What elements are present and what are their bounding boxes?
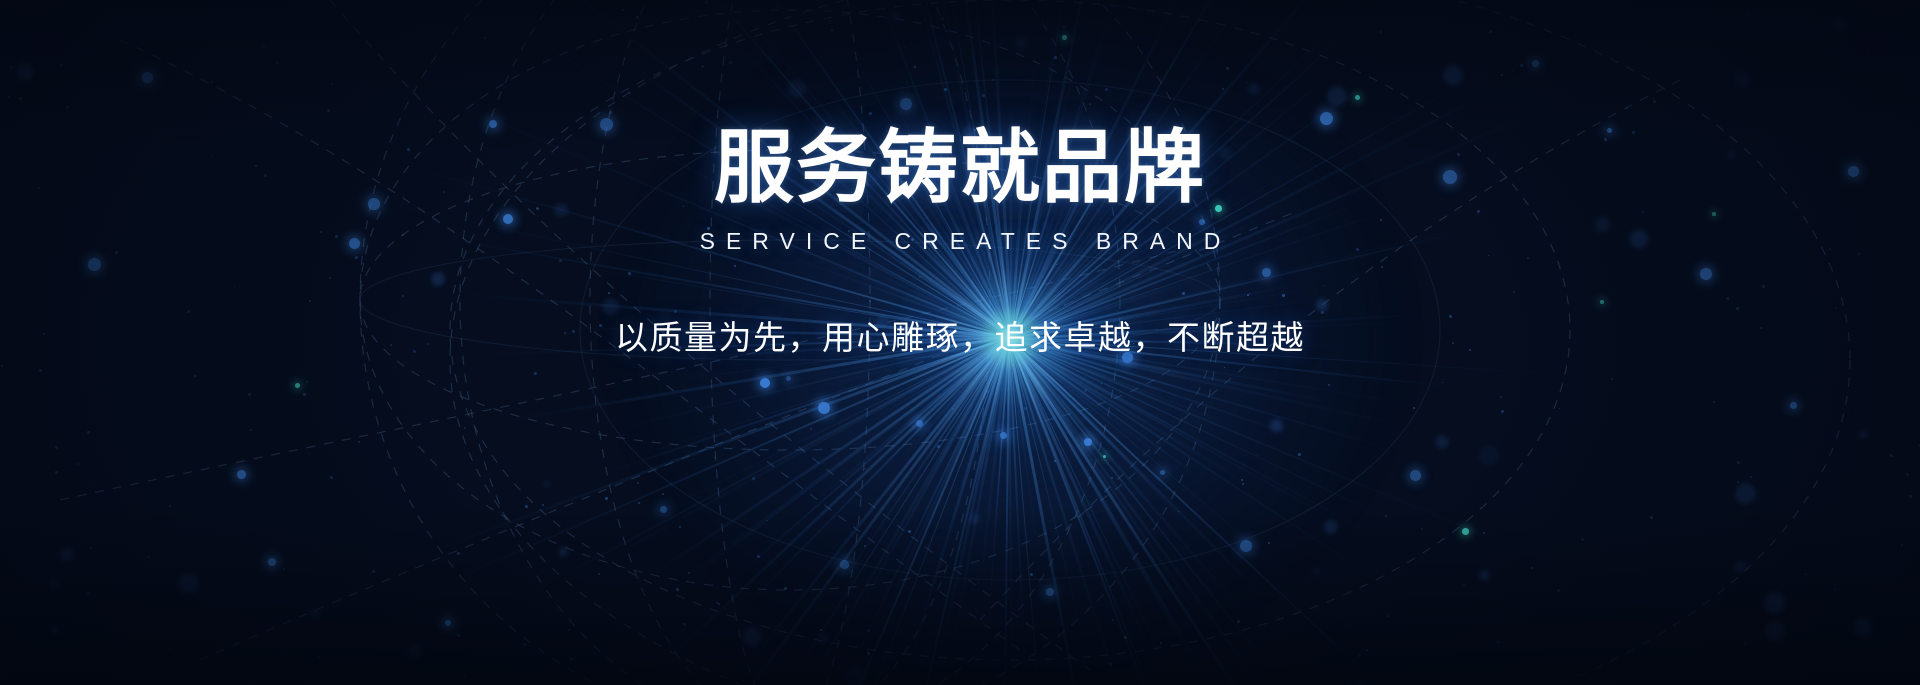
banner-content: 服务铸就品牌 SERVICE CREATES BRAND 以质量为先，用心雕琢，…	[0, 0, 1920, 685]
banner-headline: 服务铸就品牌	[714, 128, 1206, 208]
hero-banner: 服务铸就品牌 SERVICE CREATES BRAND 以质量为先，用心雕琢，…	[0, 0, 1920, 685]
banner-tagline: 以质量为先，用心雕琢，追求卓越，不断超越	[615, 311, 1305, 359]
banner-subtitle: SERVICE CREATES BRAND	[689, 228, 1232, 255]
